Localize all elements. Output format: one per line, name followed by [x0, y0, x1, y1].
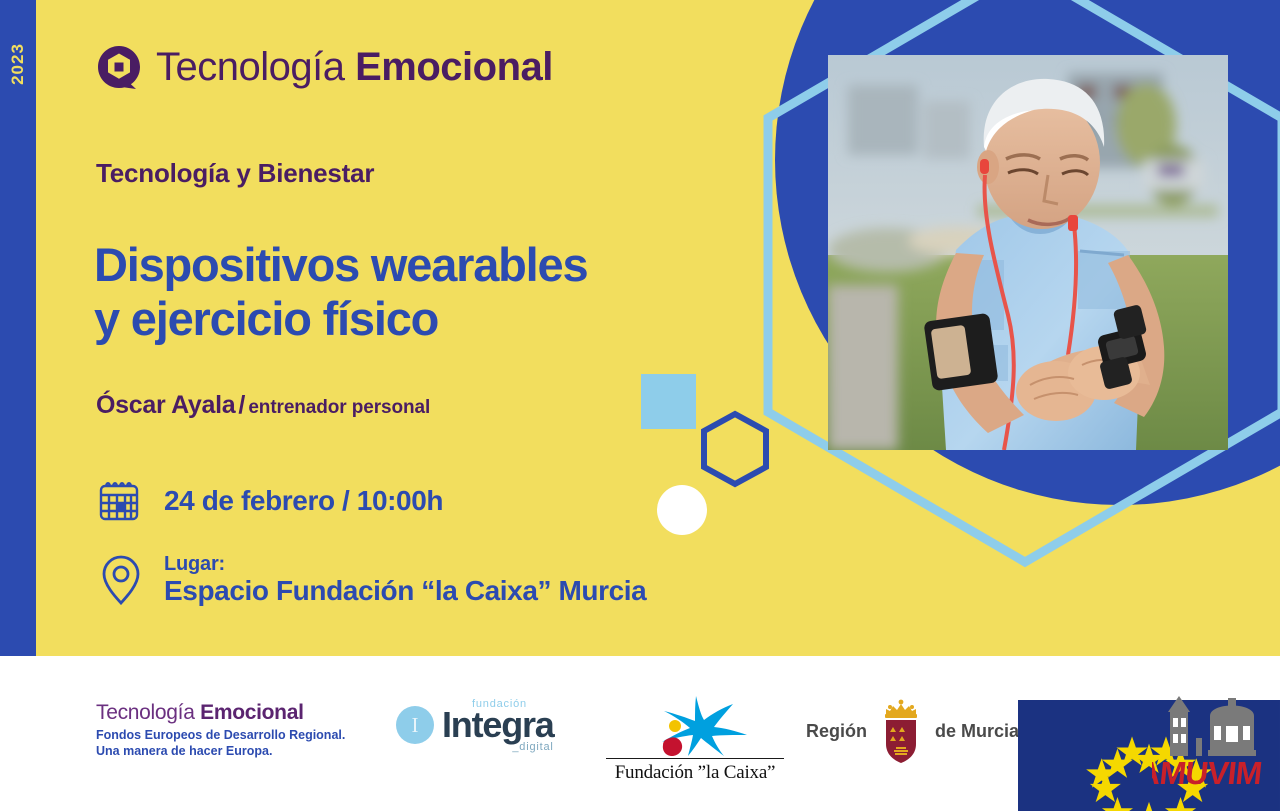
- logo-region-de-murcia: Región: [806, 698, 1019, 764]
- footer-funds-line2: Una manera de hacer Europa.: [96, 743, 345, 759]
- logo-amuvim: AMUVIM: [1152, 692, 1264, 788]
- speaker-info: Óscar Ayala/entrenador personal: [96, 391, 430, 420]
- square-decoration: [641, 374, 696, 429]
- murcia-shield-icon: [876, 698, 926, 764]
- talk-title-line1: Dispositivos wearables: [94, 238, 587, 291]
- talk-title-line2: y ejercicio físico: [94, 292, 734, 346]
- small-hexagon-decoration: [700, 410, 770, 488]
- integra-name: Integra: [442, 710, 554, 741]
- talk-title: Dispositivos wearables y ejercicio físic…: [94, 238, 734, 345]
- murcia-text-left: Región: [806, 721, 867, 742]
- svg-text:AMUVIM: AMUVIM: [1152, 755, 1263, 788]
- speaker-separator: /: [238, 391, 245, 419]
- brand-header: Tecnología Emocional: [96, 44, 553, 90]
- caixa-name: Fundación ”la Caixa”: [600, 762, 790, 784]
- event-poster: 2023 Tecnología Emocional Tecnología y B…: [0, 0, 1280, 811]
- event-place-lines: Lugar: Espacio Fundación “la Caixa” Murc…: [164, 553, 646, 607]
- logo-fundacion-integra: I fundación Integra _digital: [396, 698, 554, 753]
- speaker-role: entrenador personal: [248, 397, 430, 418]
- sponsor-footer: Tecnología Emocional Fondos Europeos de …: [0, 656, 1280, 811]
- caixa-divider: [606, 758, 784, 759]
- brand-title: Tecnología Emocional: [156, 45, 553, 90]
- footer-brand-thin: Tecnología: [96, 701, 200, 724]
- brand-title-bold: Emocional: [355, 45, 553, 89]
- event-place-row: Lugar: Espacio Fundación “la Caixa” Murc…: [100, 553, 646, 607]
- integra-badge-icon: I: [396, 706, 434, 744]
- footer-brand-bold: Emocional: [200, 701, 304, 724]
- logo-fundacion-la-caixa: Fundación ”la Caixa”: [600, 694, 790, 784]
- caixa-star-icon: [600, 694, 790, 756]
- footer-brand-title: Tecnología Emocional: [96, 700, 345, 727]
- year-strip: 2023: [0, 0, 36, 656]
- circle-decoration: [657, 485, 707, 535]
- footer-funds-line1: Fondos Europeos de Desarrollo Regional.: [96, 727, 345, 743]
- brand-title-thin: Tecnología: [156, 45, 355, 89]
- event-place-label: Lugar:: [164, 553, 646, 575]
- event-photo: [828, 55, 1228, 450]
- event-date-row: 24 de febrero / 10:00h: [96, 478, 443, 524]
- event-place-value: Espacio Fundación “la Caixa” Murcia: [164, 575, 646, 606]
- logo-tecnologia-emocional: Tecnología Emocional Fondos Europeos de …: [96, 700, 345, 759]
- year-label: 2023: [8, 23, 28, 105]
- tecnologia-emocional-mark-icon: [96, 44, 142, 90]
- series-title: Tecnología y Bienestar: [96, 158, 374, 189]
- integra-wordmark: fundación Integra _digital: [442, 698, 554, 753]
- speaker-name: Óscar Ayala: [96, 391, 235, 419]
- calendar-icon: [96, 478, 142, 524]
- murcia-text-right: de Murcia: [935, 721, 1019, 742]
- event-date-text: 24 de febrero / 10:00h: [164, 485, 443, 517]
- map-pin-icon: [100, 554, 142, 606]
